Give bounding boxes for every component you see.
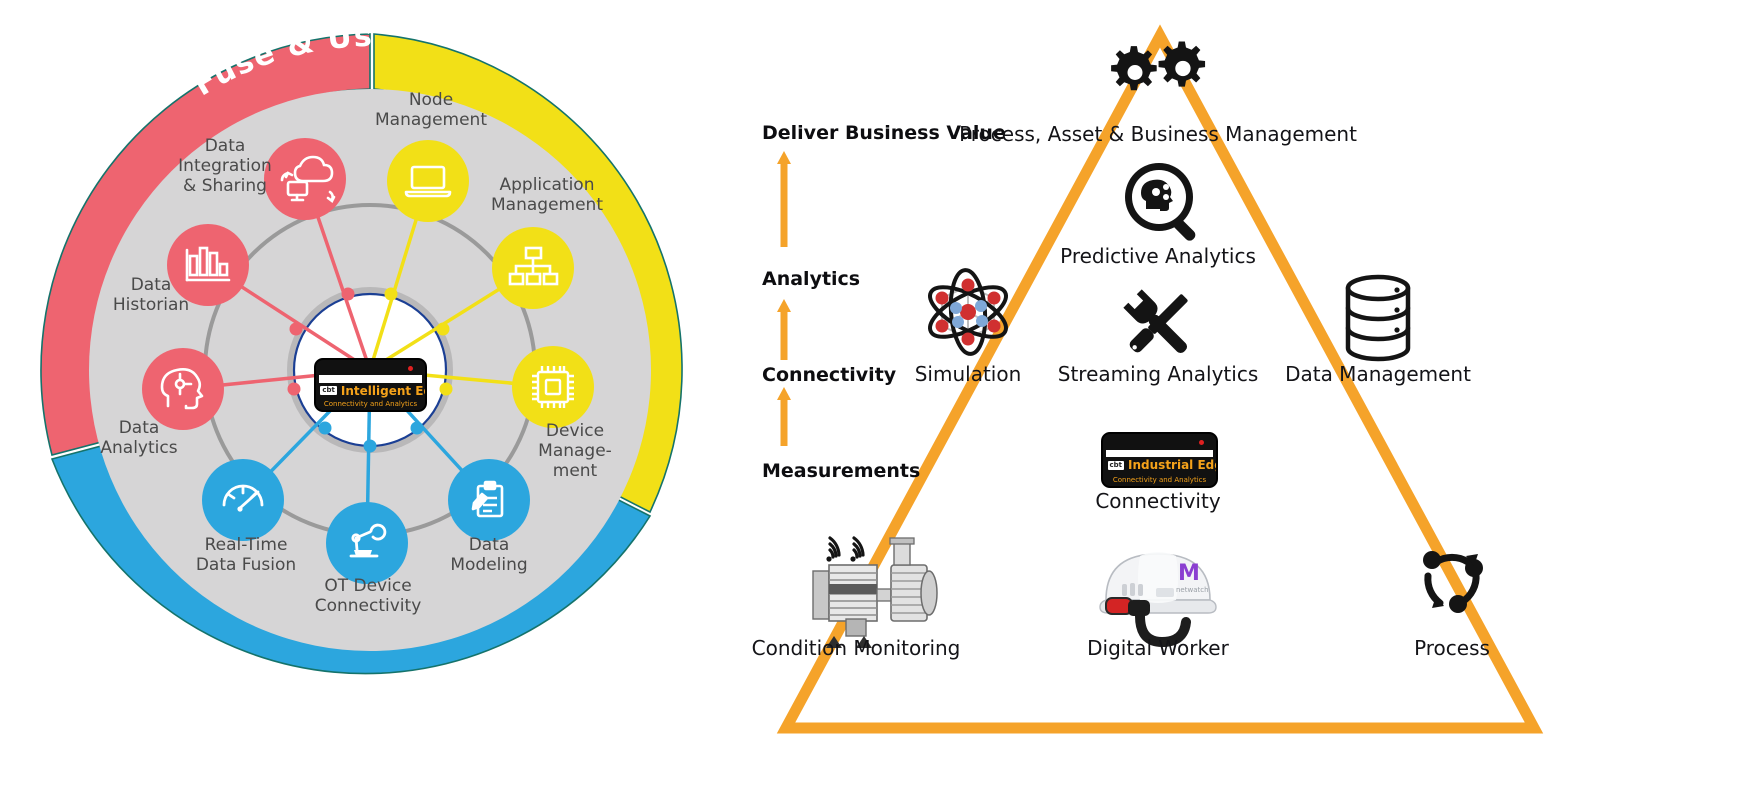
industrial-edge-device-icon: cbt Industrial Edge Connectivity and Ana…: [1101, 432, 1218, 488]
arrow-analytics-to-business: [777, 151, 791, 247]
power-led: [408, 366, 413, 371]
svg-text:M: M: [1178, 561, 1200, 586]
iiot-maturity-pyramid: M netwatch Deliv: [740, 0, 1738, 796]
brain-magnifier-icon: [1125, 163, 1197, 243]
power-led: [1199, 440, 1204, 445]
device-brand-row: cbt Intelligent Edge: [320, 384, 420, 398]
node-data-integration-sharing[interactable]: [264, 138, 346, 220]
node-device-management[interactable]: [512, 346, 594, 428]
intelligent-edge-device: cbt Intelligent Edge Connectivity and An…: [314, 358, 427, 412]
device-subtitle: Connectivity and Analytics: [316, 400, 425, 408]
hard-hat-icon: M netwatch: [1100, 552, 1216, 642]
device-subtitle: Connectivity and Analytics: [1103, 476, 1216, 484]
device-strip: [1106, 450, 1212, 458]
arrow-measurements-to-connectivity: [777, 387, 791, 446]
cbt-logo: cbt: [1108, 461, 1125, 470]
node-real-time-data-fusion[interactable]: [202, 459, 284, 541]
node-data-historian[interactable]: [167, 224, 249, 306]
antenna-icon: [401, 358, 407, 362]
database-icon: [1348, 277, 1408, 359]
stage-label-analytics: Analytics: [762, 268, 860, 290]
cap-label-simulation: Simulation: [915, 362, 1022, 386]
stage-label-connectivity: Connectivity: [762, 364, 896, 386]
iiot-wheel-diagram: Fuse & Use Manage & Monitor Acquire & Co…: [0, 0, 740, 796]
device-name: Industrial Edge: [1128, 458, 1218, 472]
cap-label-predictive-analytics: Predictive Analytics: [1060, 244, 1256, 268]
wrench-screwdriver-icon: [1123, 289, 1194, 360]
stage-label-measurements: Measurements: [762, 460, 920, 482]
cap-label-data-management: Data Management: [1285, 362, 1471, 386]
node-ot-device-connectivity[interactable]: [326, 502, 408, 584]
infographic-root: Fuse & Use Manage & Monitor Acquire & Co…: [0, 0, 1738, 796]
cap-label-process-asset-business-management: Process, Asset & Business Management: [959, 122, 1357, 146]
cap-label-condition-monitoring: Condition Monitoring: [752, 636, 961, 660]
antenna-icon: [1191, 432, 1197, 436]
svg-text:netwatch: netwatch: [1176, 586, 1209, 594]
cap-label-process: Process: [1414, 636, 1490, 660]
cap-label-connectivity-device: Connectivity: [1095, 489, 1220, 513]
cbt-logo: cbt: [320, 386, 337, 395]
device-strip: [319, 375, 421, 383]
device-name: Intelligent Edge: [341, 384, 427, 398]
node-application-management[interactable]: [492, 227, 574, 309]
pyramid-graphic: M netwatch: [740, 0, 1738, 796]
node-data-modeling[interactable]: [448, 459, 530, 541]
device-brand-row: cbt Industrial Edge: [1108, 458, 1212, 472]
node-data-analytics[interactable]: [142, 348, 224, 430]
cap-label-digital-worker: Digital Worker: [1087, 636, 1229, 660]
node-node-management[interactable]: [387, 140, 469, 222]
arrow-connectivity-to-analytics: [777, 299, 791, 360]
stage-arrows: [777, 151, 791, 446]
cap-label-streaming-analytics: Streaming Analytics: [1058, 362, 1258, 386]
